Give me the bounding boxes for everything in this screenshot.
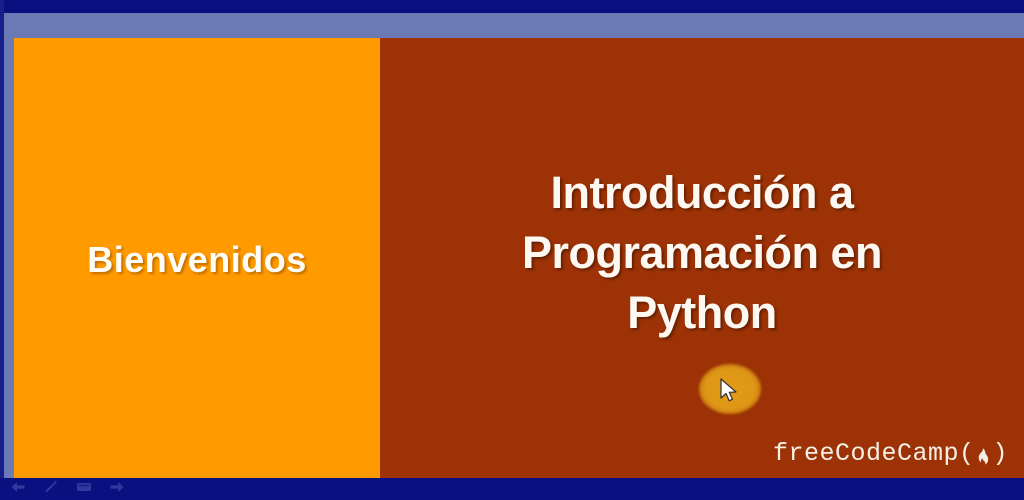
freecodecamp-logo: freeCodeCamp ( ) xyxy=(773,439,1008,468)
slide-icon xyxy=(76,480,92,498)
previous-slide-button[interactable] xyxy=(9,482,26,496)
slide-title: Introducción a Programación en Python xyxy=(380,163,1024,343)
presentation-toolbar xyxy=(0,478,1024,500)
flame-icon xyxy=(975,446,991,466)
logo-open-paren: ( xyxy=(959,439,975,468)
slide-canvas[interactable]: Bienvenidos Introducción a Programación … xyxy=(14,38,1024,481)
welcome-heading: Bienvenidos xyxy=(87,239,307,281)
window-top-chrome xyxy=(0,0,1024,13)
slide-title-line-1: Introducción a xyxy=(380,163,1024,223)
slide-title-line-3: Python xyxy=(380,283,1024,343)
slide-title-line-2: Programación en xyxy=(380,223,1024,283)
presentation-viewer-window: Bienvenidos Introducción a Programación … xyxy=(0,0,1024,500)
next-slide-button[interactable] xyxy=(108,482,125,496)
pen-icon xyxy=(44,480,58,498)
freecodecamp-wordmark: freeCodeCamp xyxy=(773,439,959,468)
logo-close-paren: ) xyxy=(992,439,1008,468)
arrow-right-icon xyxy=(109,480,125,498)
slide-left-panel: Bienvenidos xyxy=(14,38,380,481)
slide-frame: Bienvenidos Introducción a Programación … xyxy=(4,13,1024,478)
mouse-cursor xyxy=(720,378,740,406)
slide-right-panel: Introducción a Programación en Python fr… xyxy=(380,38,1024,481)
slide-view-button[interactable] xyxy=(75,482,92,496)
pen-tool-button[interactable] xyxy=(42,482,59,496)
arrow-left-icon xyxy=(10,480,26,498)
